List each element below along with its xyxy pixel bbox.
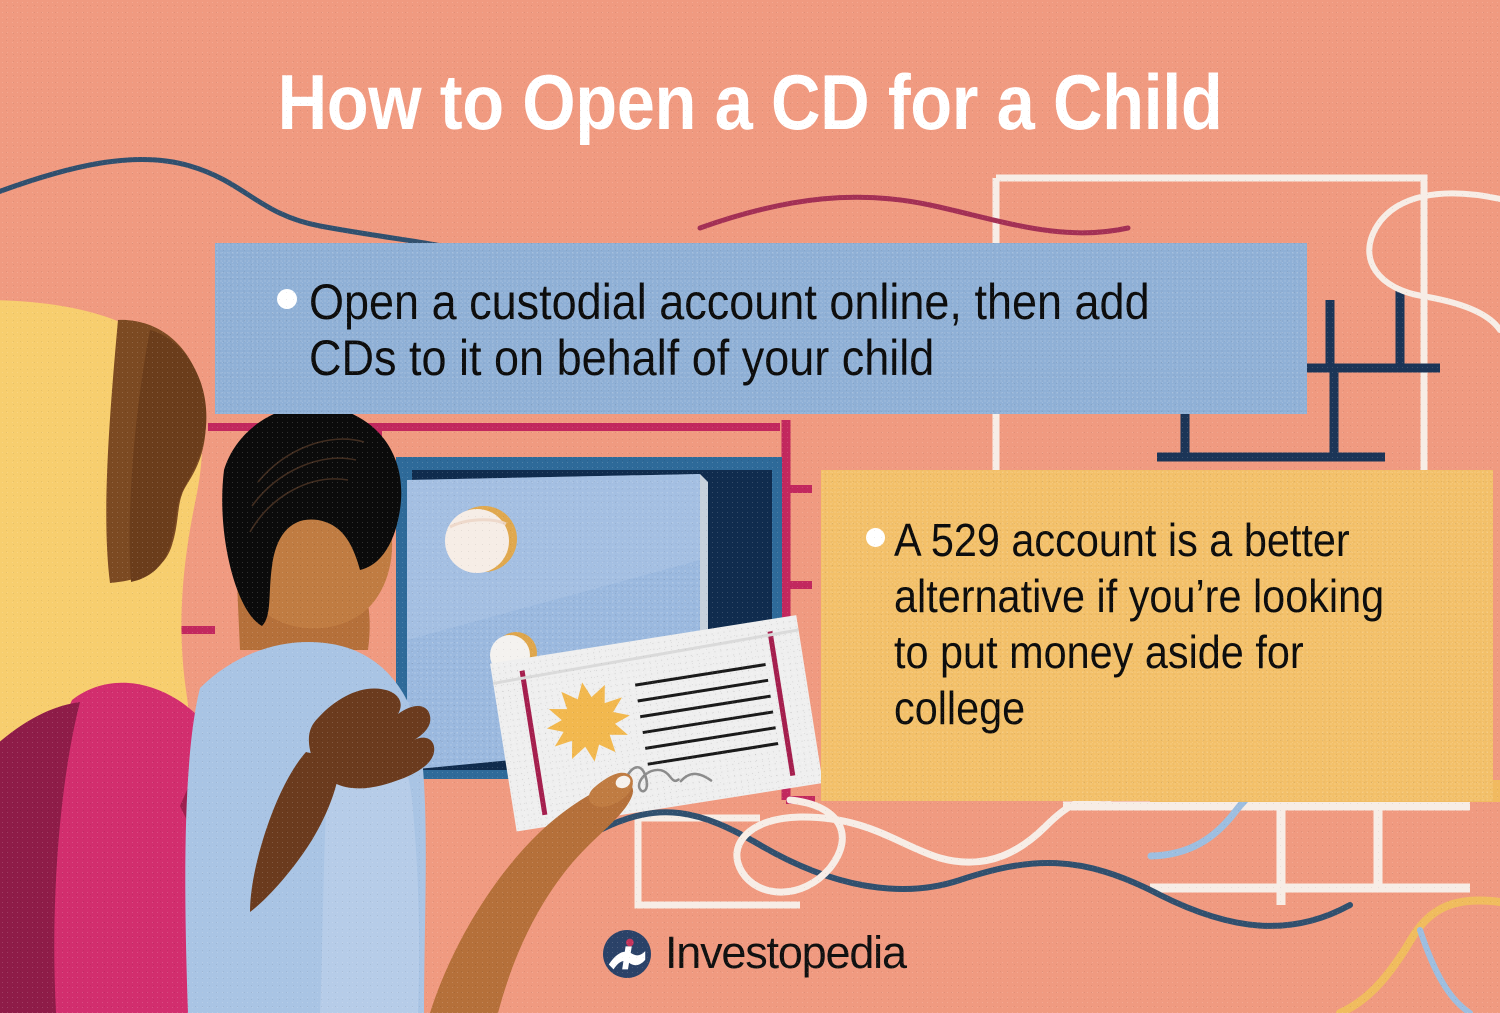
investopedia-i-circle-icon (603, 930, 651, 978)
callout-blue: Open a custodial account online, then ad… (215, 243, 1307, 414)
callout-blue-text: Open a custodial account online, then ad… (309, 274, 1186, 386)
callout-orange: A 529 account is a better alternative if… (821, 470, 1493, 801)
bullet-dot-icon (277, 289, 297, 309)
page-title: How to Open a CD for a Child (90, 62, 1410, 144)
infographic-canvas: How to Open a CD for a Child (0, 0, 1500, 1013)
bullet-dot-icon (866, 528, 885, 547)
investopedia-logo: Investopedia (603, 930, 906, 978)
investopedia-wordmark: Investopedia (665, 930, 906, 975)
callout-orange-text: A 529 account is a better alternative if… (894, 512, 1415, 736)
